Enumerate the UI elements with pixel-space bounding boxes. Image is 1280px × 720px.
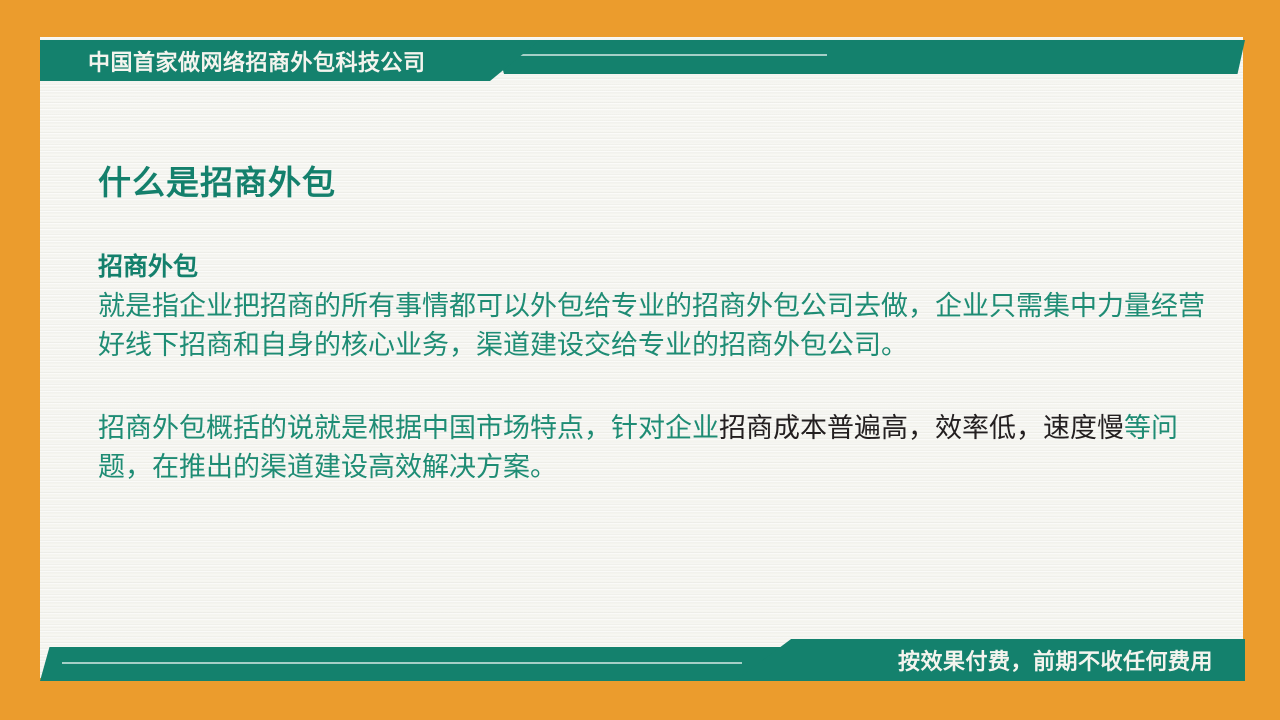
- header-rail-decoration: [495, 40, 1245, 74]
- summary-paragraph: 招商外包概括的说就是根据中国市场特点，针对企业招商成本普遍高，效率低，速度慢等问…: [98, 409, 1218, 487]
- page-title: 什么是招商外包: [98, 165, 1218, 201]
- footer-tagline: 按效果付费，前期不收任何费用: [898, 644, 1213, 676]
- summary-text-highlight: 招商成本普遍高，效率低，速度慢: [719, 413, 1124, 443]
- slide-root: 中国首家做网络招商外包科技公司 什么是招商外包 招商外包 就是指企业把招商的所有…: [0, 0, 1280, 720]
- main-content: 什么是招商外包 招商外包 就是指企业把招商的所有事情都可以外包给专业的招商外包公…: [98, 165, 1218, 487]
- definition-term: 招商外包: [98, 251, 1218, 285]
- definition-paragraph: 就是指企业把招商的所有事情都可以外包给专业的招商外包公司去做，企业只需集中力量经…: [98, 287, 1218, 365]
- footer-tagline-block: 按效果付费，前期不收任何费用: [735, 639, 1245, 681]
- footer-rail-decoration: [40, 647, 830, 681]
- header-band: 中国首家做网络招商外包科技公司: [40, 40, 1245, 81]
- header-title-block: 中国首家做网络招商外包科技公司: [40, 40, 540, 81]
- summary-text-part-1: 招商外包概括的说就是根据中国市场特点，针对企业: [98, 413, 719, 443]
- header-title: 中国首家做网络招商外包科技公司: [88, 45, 426, 77]
- footer-rail-line-icon: [62, 662, 742, 664]
- footer-band: 按效果付费，前期不收任何费用: [40, 639, 1245, 681]
